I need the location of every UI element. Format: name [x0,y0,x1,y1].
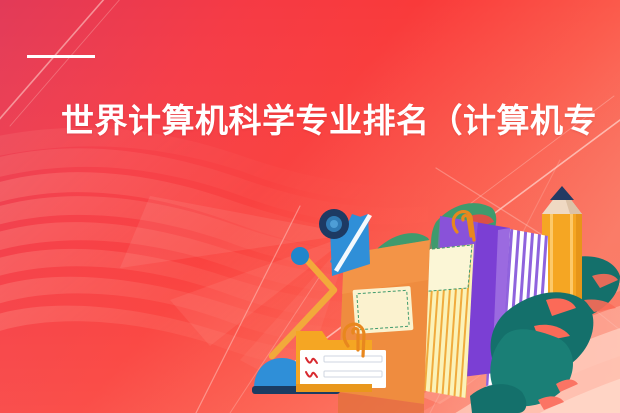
lamp-joint [291,247,309,265]
accent-rule [27,55,95,58]
page-title: 世界计算机科学专业排名（计算机专 [61,101,597,141]
stationery-desk-illustration [0,0,620,413]
article-cover-banner: 世界计算机科学专业排名（计算机专 [0,0,620,413]
